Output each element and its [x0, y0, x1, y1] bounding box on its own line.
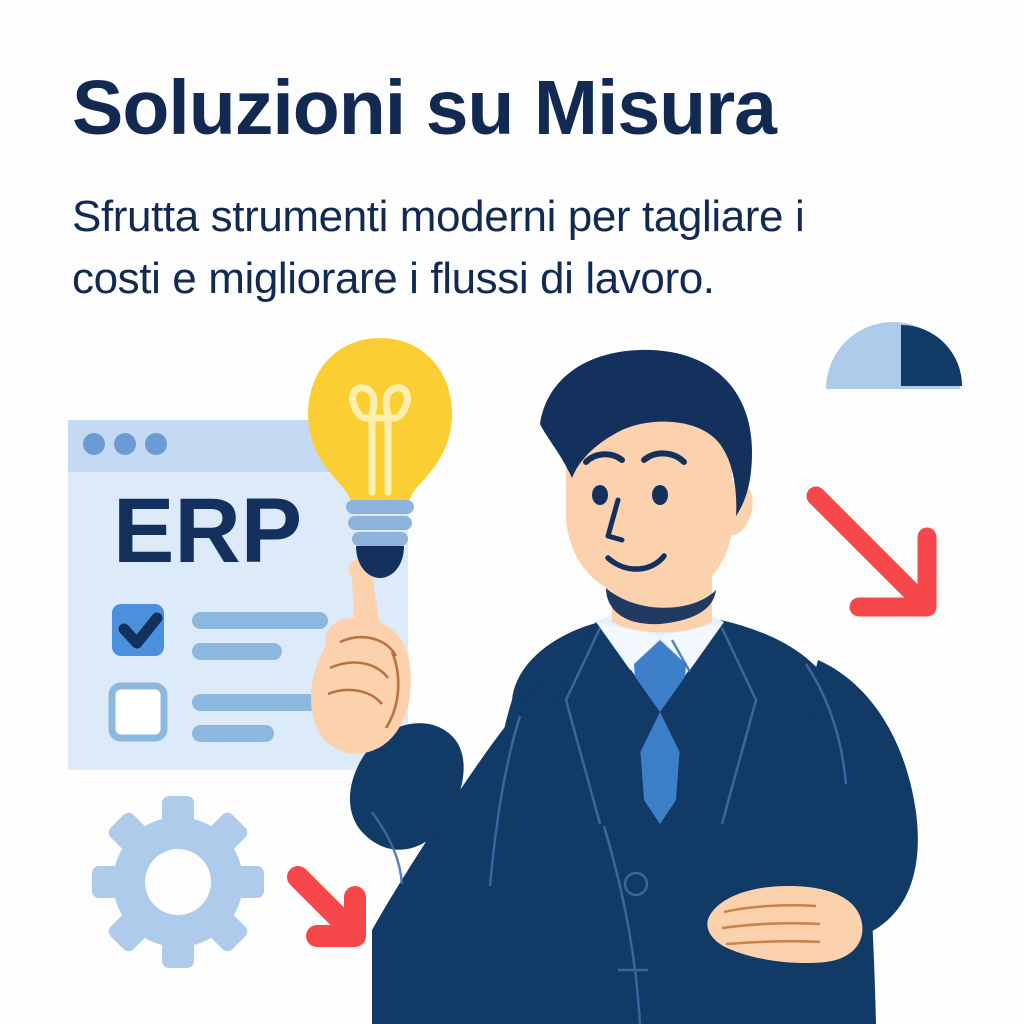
arrow-shaft: [816, 496, 924, 604]
erp-text-line: [192, 694, 318, 711]
eye-right: [652, 485, 668, 505]
erp-text-line: [192, 725, 274, 742]
gear-icon: [92, 796, 264, 968]
arrow-down-right-large-icon: [816, 496, 927, 607]
checkbox-unchecked-icon[interactable]: [112, 686, 164, 738]
poster-canvas: Soluzioni su Misura Sfrutta strumenti mo…: [0, 0, 1024, 1024]
erp-text-line: [192, 643, 282, 660]
erp-title-label: ERP: [113, 480, 302, 582]
eye-left: [592, 485, 608, 505]
window-dot-icon[interactable]: [114, 433, 136, 455]
bulb-base: [346, 500, 414, 546]
arrow-shaft: [298, 877, 352, 931]
pie-chart: [826, 322, 962, 389]
pie-slice-minor: [901, 325, 962, 386]
window-dot-icon[interactable]: [83, 433, 105, 455]
window-dot-icon[interactable]: [145, 433, 167, 455]
arrow-down-right-small-icon: [298, 877, 355, 936]
erp-text-line: [192, 612, 328, 629]
illustration: ERP: [0, 0, 1024, 1024]
